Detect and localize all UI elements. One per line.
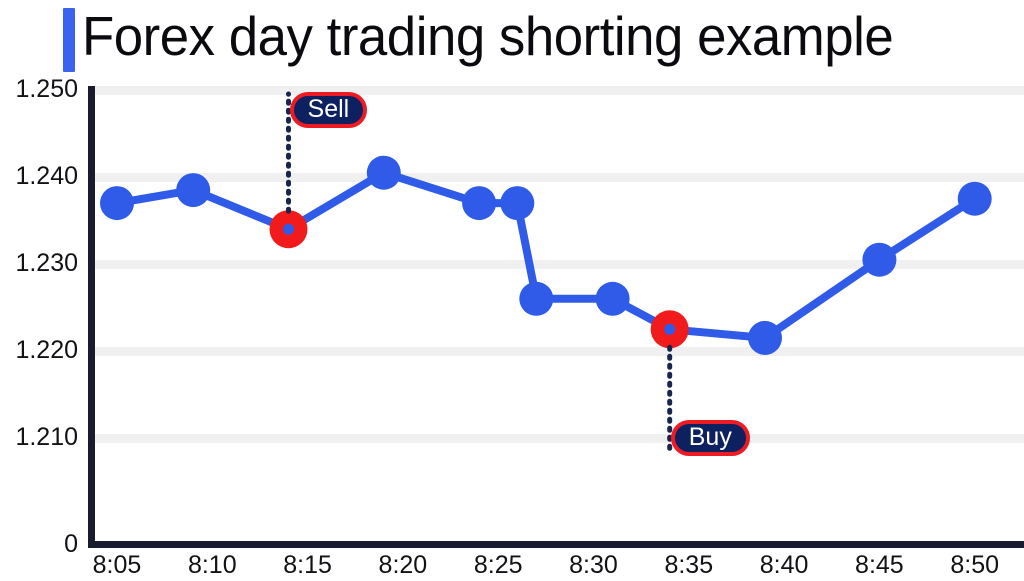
chart-figure: Forex day trading shorting example 1.250…	[0, 0, 1024, 581]
price-line	[117, 173, 975, 338]
buy-annotation-badge[interactable]: Buy	[671, 420, 750, 456]
data-point-marker[interactable]	[748, 321, 782, 355]
data-point-marker[interactable]	[500, 186, 534, 220]
price-series	[0, 0, 1024, 581]
data-point-marker[interactable]	[958, 182, 992, 216]
chart-plot-area: 1.2501.2401.2301.2201.2100 8:058:108:158…	[0, 0, 1024, 581]
data-point-marker[interactable]	[862, 243, 896, 277]
data-point-marker[interactable]	[100, 186, 134, 220]
trade-marker-core	[283, 224, 294, 235]
data-point-marker[interactable]	[367, 156, 401, 190]
sell-annotation-badge[interactable]: Sell	[290, 92, 368, 128]
data-point-marker[interactable]	[176, 173, 210, 207]
annotation-label: Sell	[308, 97, 350, 122]
annotation-label: Buy	[689, 425, 732, 450]
data-point-marker[interactable]	[596, 282, 630, 316]
data-point-marker[interactable]	[519, 282, 553, 316]
data-point-marker[interactable]	[462, 186, 496, 220]
trade-marker-core	[664, 324, 675, 335]
